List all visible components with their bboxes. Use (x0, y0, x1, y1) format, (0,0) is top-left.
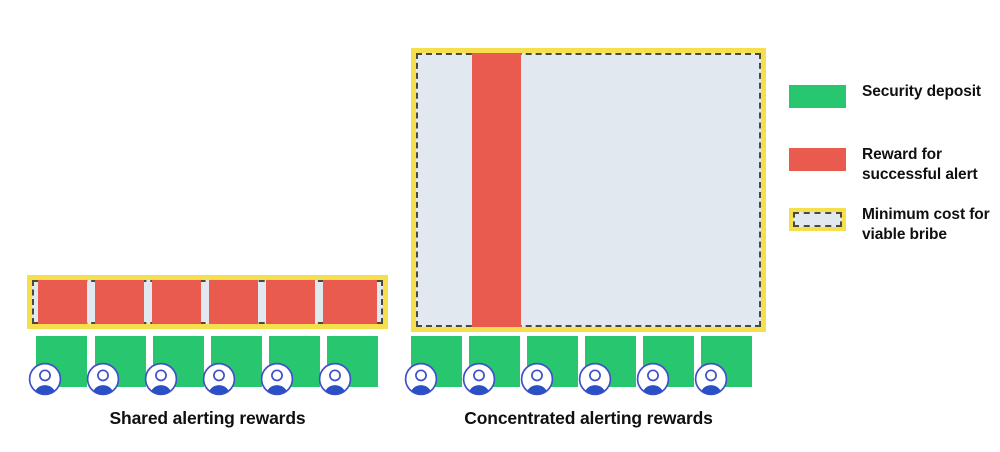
legend-swatch-security-deposit (789, 85, 846, 108)
validator-avatar-icon (520, 362, 554, 396)
validator-avatar-icon (462, 362, 496, 396)
reward-segment (38, 280, 87, 324)
legend-swatch-reward (789, 148, 846, 171)
panel-caption-concentrated: Concentrated alerting rewards (411, 408, 766, 429)
validator-avatar-icon (404, 362, 438, 396)
legend-swatch-bribe-dash (793, 212, 842, 227)
legend-label-reward: Reward for successful alert (862, 145, 978, 185)
bribe-box-dash-concentrated (416, 53, 761, 327)
legend-swatch-bribe (789, 208, 846, 231)
reward-segment (152, 280, 201, 324)
validator-avatar-icon (28, 362, 62, 396)
validator-avatar-icon (144, 362, 178, 396)
validator-avatar-icon (318, 362, 352, 396)
validator-avatar-icon (694, 362, 728, 396)
legend-item-security-deposit: Security deposit (789, 85, 981, 108)
reward-segment (95, 280, 144, 324)
reward-segment (266, 280, 315, 324)
validator-avatar-icon (636, 362, 670, 396)
validator-avatar-icon (578, 362, 612, 396)
validator-avatar-icon (86, 362, 120, 396)
validator-avatar-icon (260, 362, 294, 396)
legend-label-bribe: Minimum cost for viable bribe (862, 205, 990, 245)
diagram-canvas: Shared alerting rewards (0, 0, 1000, 452)
bribe-box-concentrated (411, 48, 766, 332)
reward-segment (209, 280, 258, 324)
reward-segment (323, 280, 377, 324)
legend-item-bribe: Minimum cost for viable bribe (789, 208, 990, 245)
validator-avatar-icon (202, 362, 236, 396)
reward-segment (472, 53, 521, 327)
legend-label-security-deposit: Security deposit (862, 82, 981, 102)
legend-item-reward: Reward for successful alert (789, 148, 978, 185)
panel-caption-shared: Shared alerting rewards (27, 408, 388, 429)
